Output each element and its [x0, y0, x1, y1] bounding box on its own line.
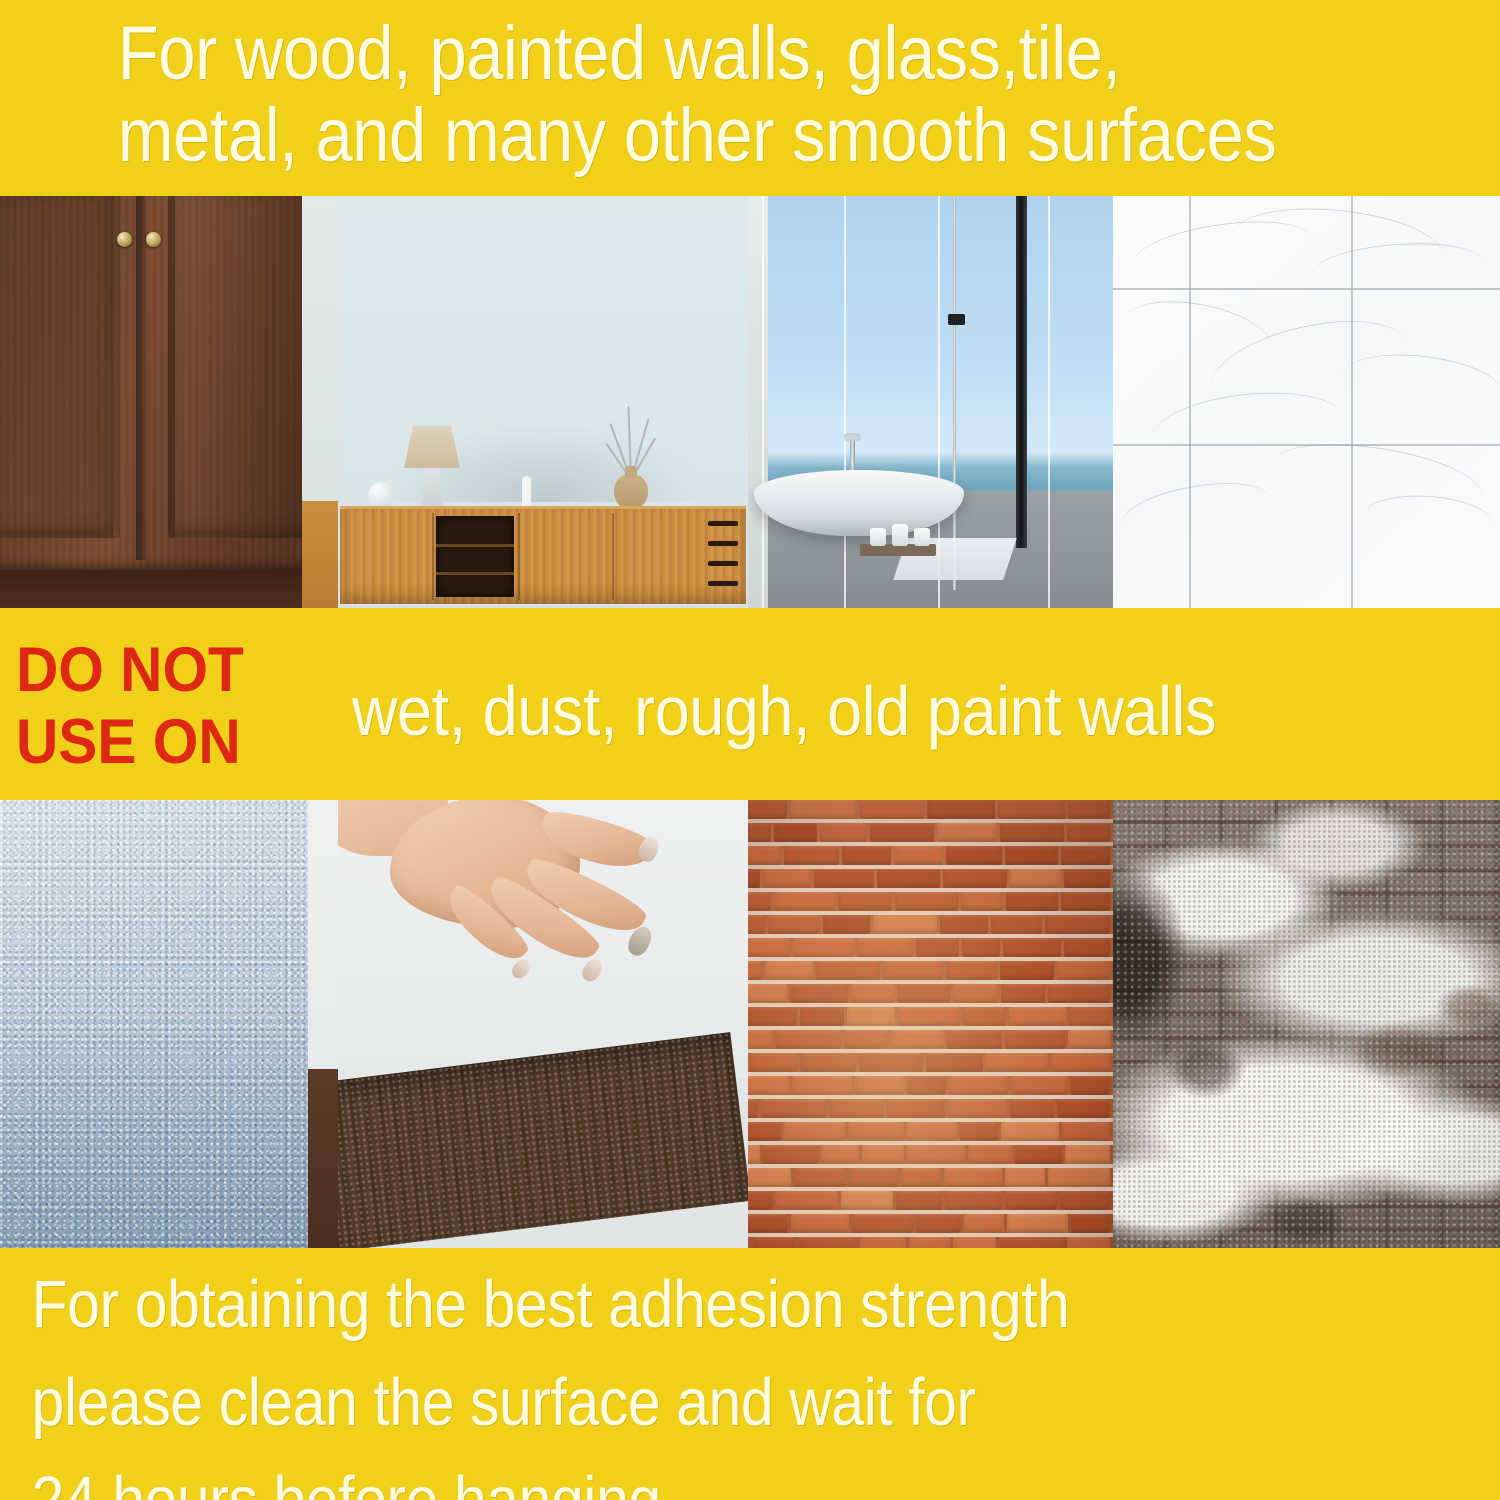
photo-glass-bathroom: [748, 196, 1113, 608]
photo-old-paint-brick-wall: [1113, 800, 1500, 1248]
photo-painted-wall-sideboard: [338, 196, 748, 608]
instruction-line-2: please clean the surface and wait for: [0, 1346, 1070, 1444]
instruction-line-3: 24 hours before hanging: [0, 1444, 1070, 1500]
photo-wet-condensation-surface: [0, 800, 338, 1248]
photo-dark-wood-cabinet: [0, 196, 338, 608]
suitable-surfaces-line-1: For wood, painted walls, glass,tile,: [0, 10, 1276, 98]
adhesion-instructions-banner: For obtaining the best adhesion strength…: [0, 1248, 1500, 1500]
do-not-line-1: DO NOT: [16, 634, 244, 706]
instruction-line-1: For obtaining the best adhesion strength: [0, 1248, 1070, 1346]
bathtub-icon: [754, 470, 964, 536]
cabinet-knob-icon: [146, 232, 161, 247]
unsuitable-surfaces-gallery: [0, 800, 1500, 1248]
cabinet-knob-icon: [117, 232, 132, 247]
suitable-surfaces-banner: For wood, painted walls, glass,tile, met…: [0, 0, 1500, 196]
suitable-surfaces-gallery: [0, 196, 1500, 608]
do-not-use-banner: DO NOT USE ON wet, dust, rough, old pain…: [0, 608, 1500, 800]
photo-red-brick-wall: [748, 800, 1113, 1248]
photo-white-marble-tile: [1113, 196, 1500, 608]
do-not-line-2: USE ON: [16, 706, 244, 778]
wooden-sideboard: [340, 506, 746, 604]
table-lamp-icon: [404, 426, 460, 468]
hand-icon: [352, 800, 652, 1040]
ceramic-vase-icon: [614, 474, 648, 510]
photo-hand-dusty-surface: [338, 800, 748, 1248]
dusty-wood-table: [338, 1032, 748, 1248]
do-not-use-warning: DO NOT USE ON: [16, 634, 244, 778]
product-infographic: For wood, painted walls, glass,tile, met…: [0, 0, 1500, 1500]
suitable-surfaces-line-2: metal, and many other smooth surfaces: [0, 92, 1276, 180]
unsuitable-surfaces-text: wet, dust, rough, old paint walls: [352, 674, 1216, 748]
